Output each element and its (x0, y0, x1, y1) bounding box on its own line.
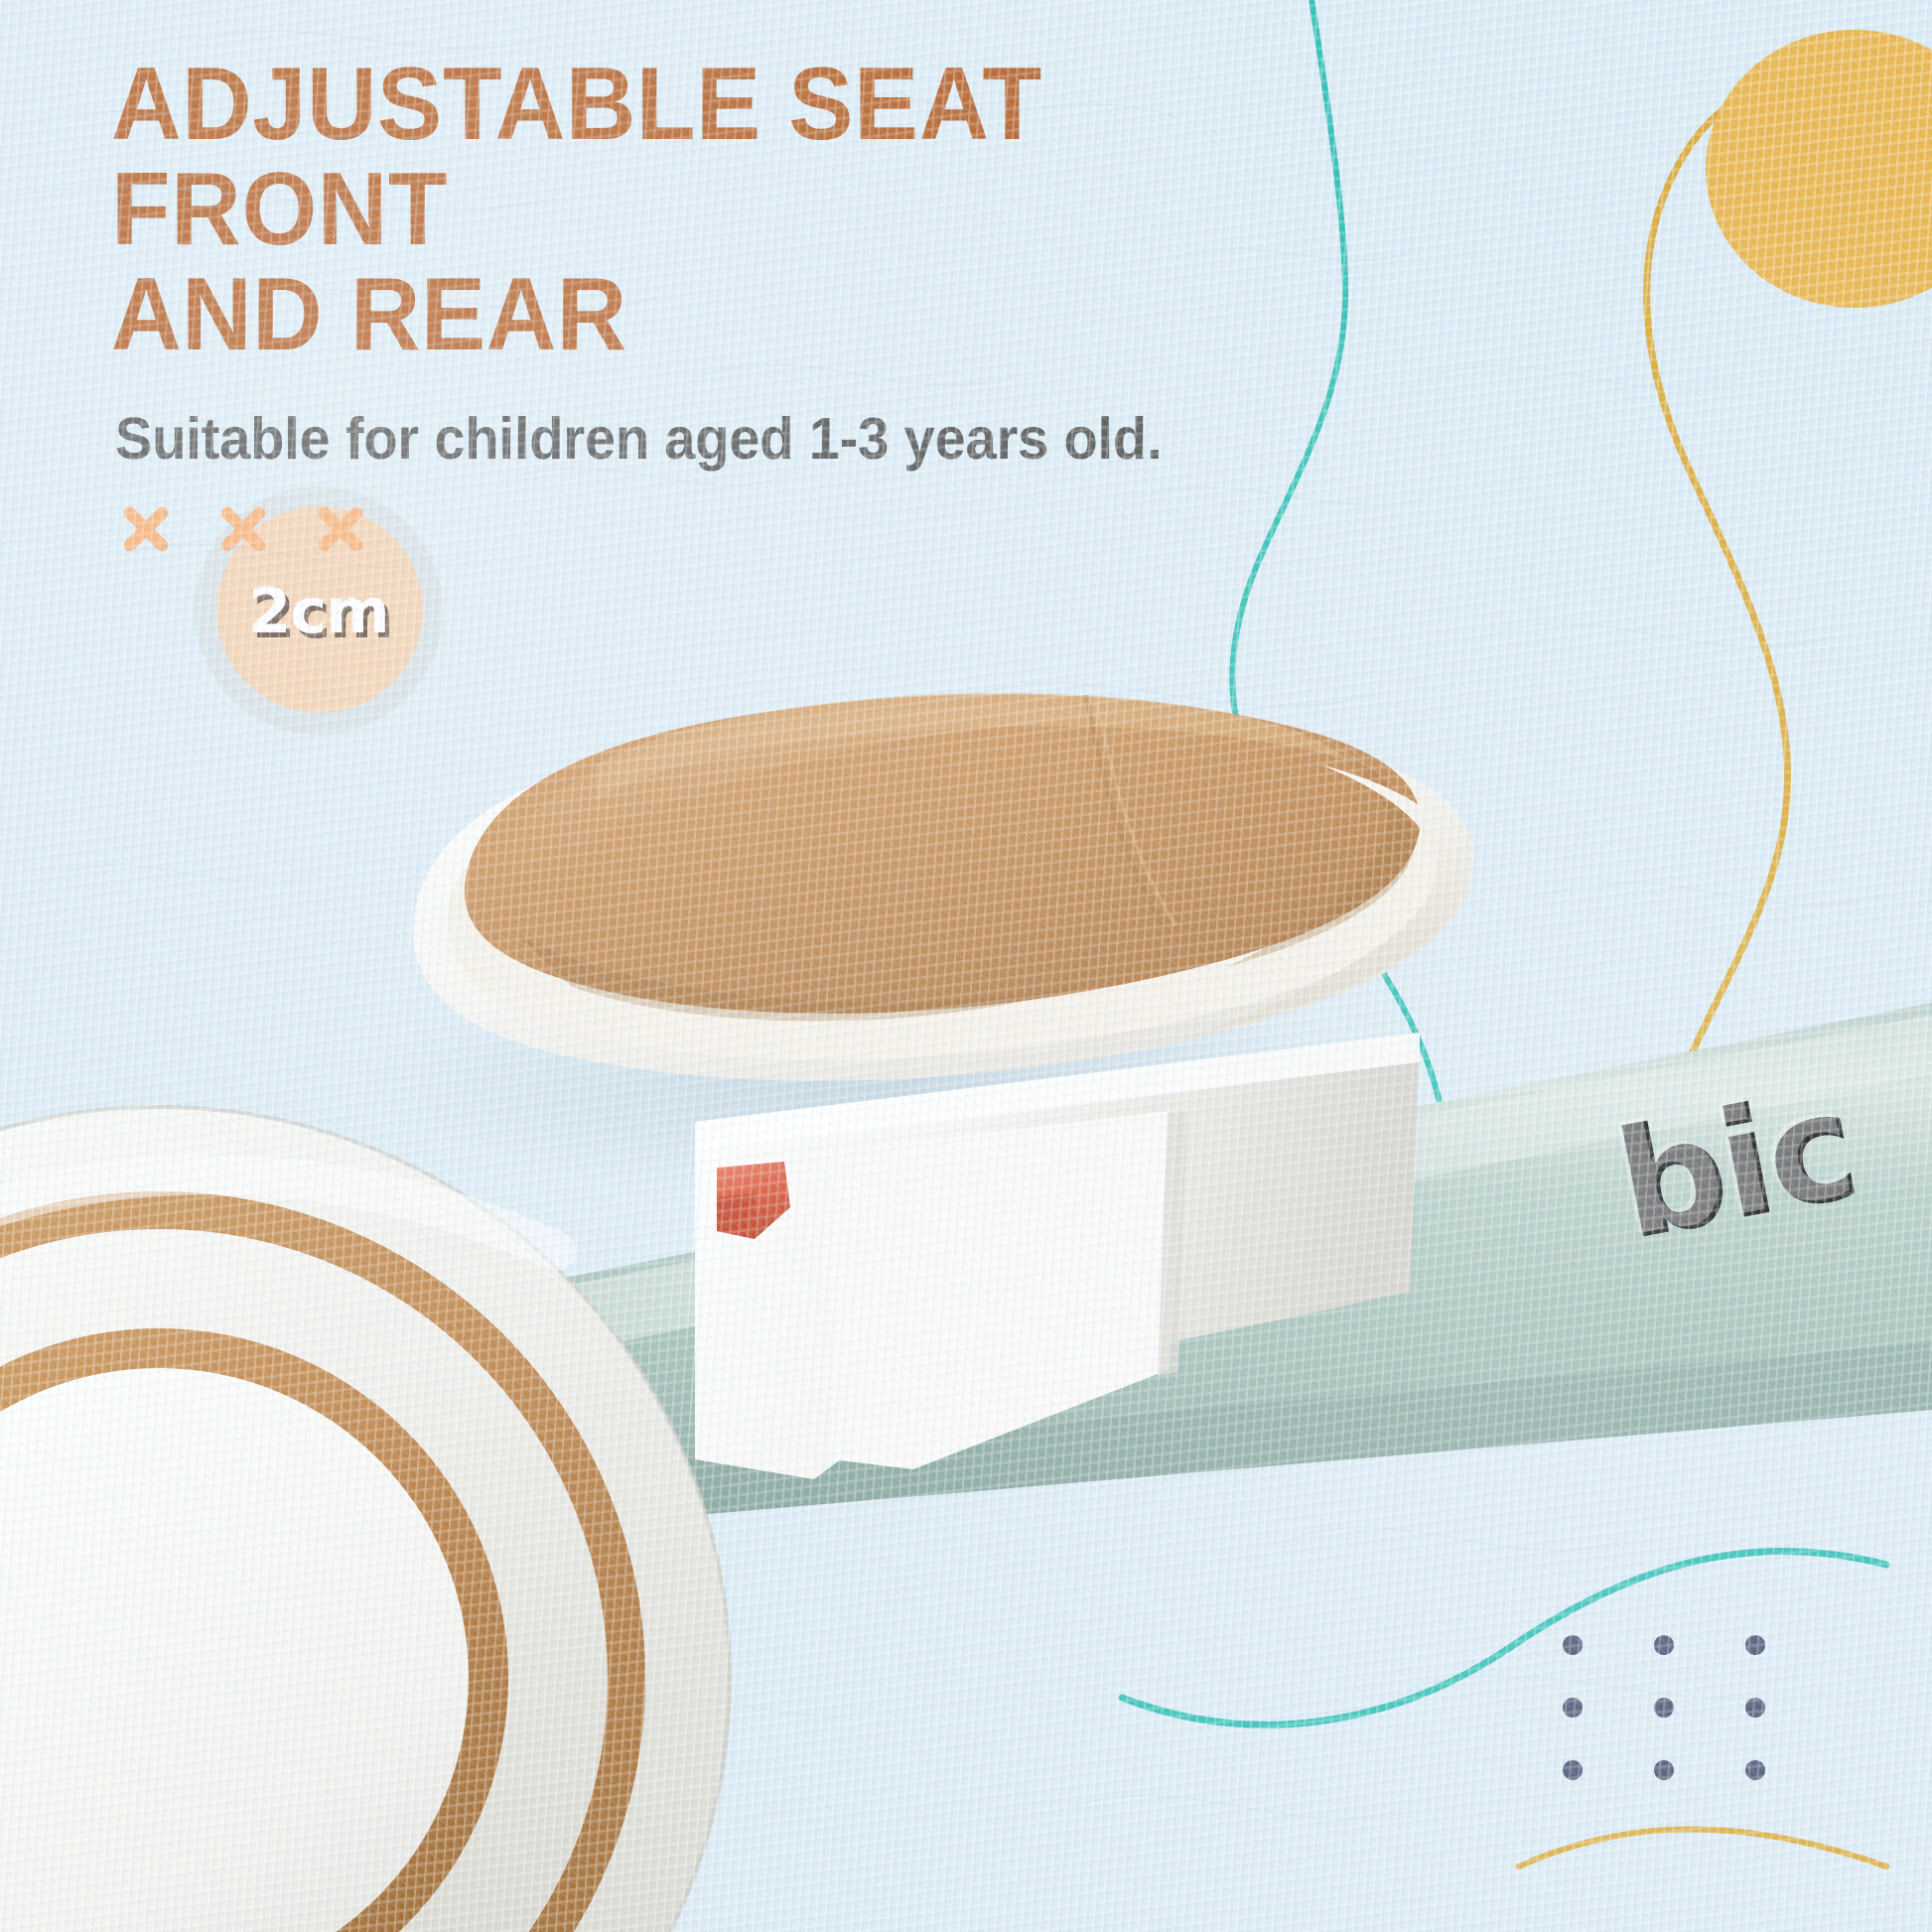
x-mark-icon (216, 502, 270, 556)
x-mark-icon (119, 502, 173, 556)
headline-block: ADJUSTABLE SEAT FRONT AND REAR Suitable … (111, 52, 1362, 556)
page-title: ADJUSTABLE SEAT FRONT AND REAR (111, 52, 1287, 367)
x-marks-row (119, 502, 1362, 556)
product-feature-poster: bic bic (0, 0, 1932, 1932)
subtitle: Suitable for children aged 1-3 years old… (115, 405, 1300, 473)
x-mark-icon (314, 502, 367, 556)
bike-wheel (0, 1107, 730, 1932)
